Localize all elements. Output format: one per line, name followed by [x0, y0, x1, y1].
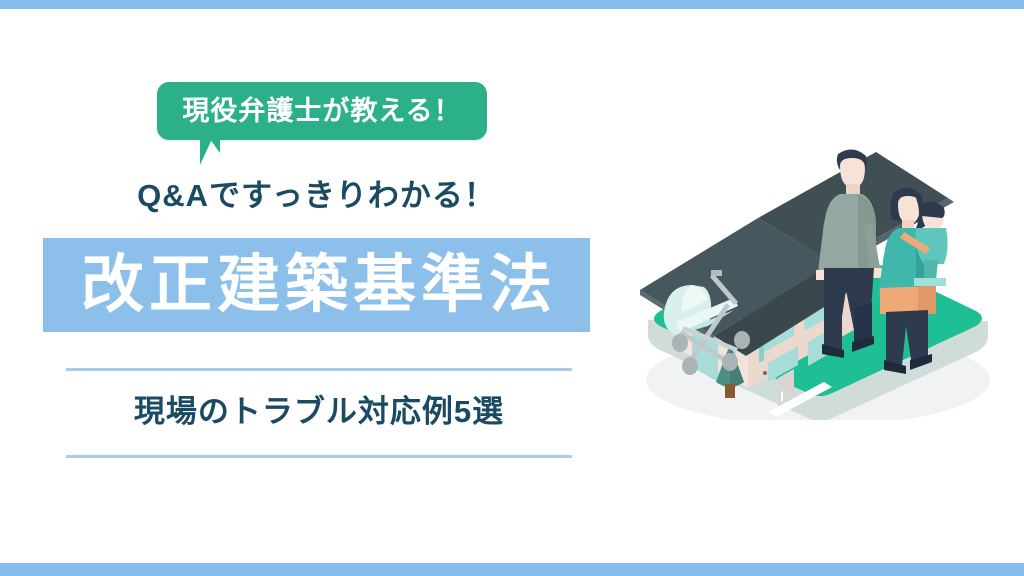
stroller-wheel-3	[722, 353, 738, 371]
stroller-wheel-4	[734, 331, 750, 349]
stroller-wheel-2	[682, 357, 698, 375]
poster-canvas: 現役弁護士が教える！ Q&Aですっきりわかる！ 改正建築基準法 現場のトラブル対…	[0, 0, 1024, 576]
tree-trunk	[725, 384, 735, 398]
subtitle: 現場のトラブル対応例5選	[66, 392, 572, 432]
divider-top	[66, 368, 572, 371]
door-light-icon	[763, 371, 767, 375]
top-accent-bar	[0, 0, 1024, 9]
badge: 現役弁護士が教える！	[157, 82, 487, 140]
house-family-illustration	[618, 130, 1018, 420]
bottom-accent-bar	[0, 563, 1024, 576]
divider-bottom	[66, 455, 572, 458]
stroller-wheel-1	[672, 334, 688, 352]
door-handle-icon	[781, 391, 783, 402]
baby-leg	[924, 260, 938, 280]
headline-kicker: Q&Aですっきりわかる！	[43, 180, 590, 211]
carrier-strap-2	[914, 278, 946, 286]
stroller-handle-grip	[711, 270, 722, 276]
woman-skirt-shade	[918, 286, 936, 314]
badge-tail-inner-icon	[210, 139, 220, 153]
title-band: 改正建築基準法	[43, 238, 590, 332]
page-title: 改正建築基準法	[76, 254, 557, 317]
badge-bubble: 現役弁護士が教える！	[157, 82, 487, 140]
badge-label: 現役弁護士が教える！	[182, 98, 461, 125]
